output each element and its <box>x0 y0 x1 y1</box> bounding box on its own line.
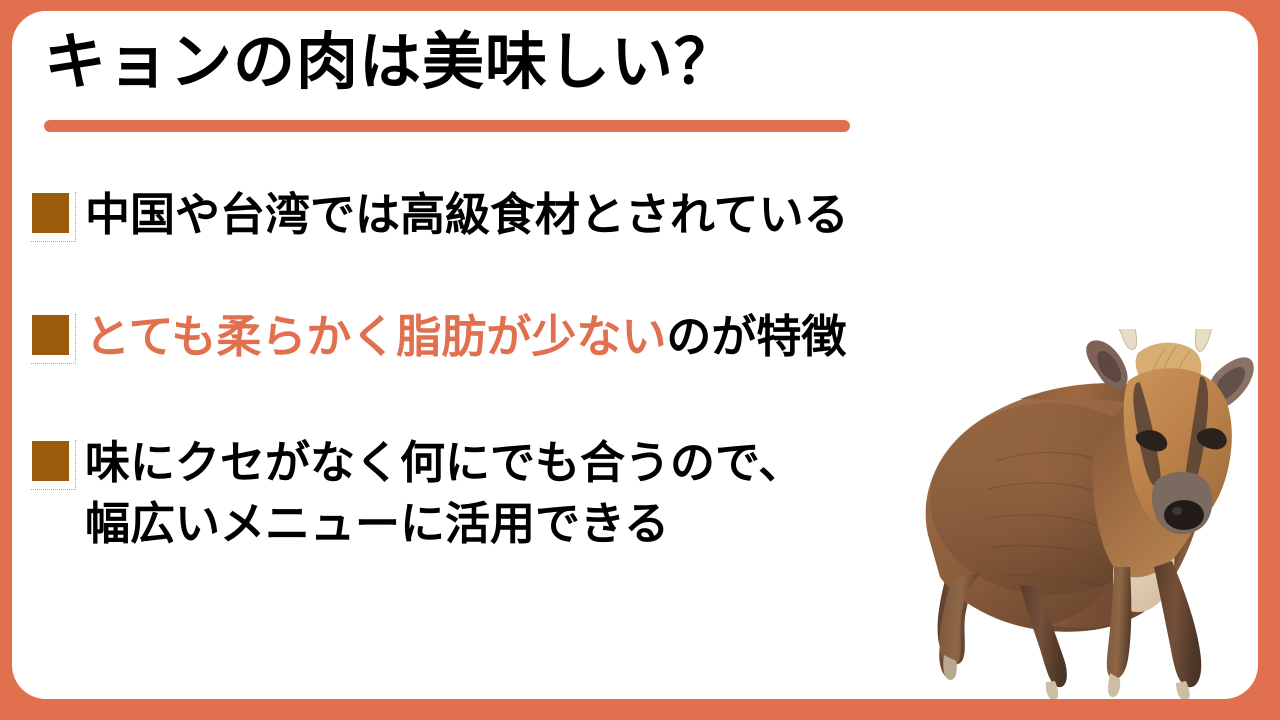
title-block: キョンの肉は美味しい？ <box>44 23 904 101</box>
bullet-text-3: 味にクセがなく何にでも合うので、 幅広いメニューに活用できる <box>85 432 803 554</box>
square-bullet-icon <box>32 193 69 233</box>
bullet-2-highlight-segment: とても柔らかく脂肪が少ない <box>85 310 666 363</box>
deer-nostril <box>1172 507 1182 515</box>
bullet-3-line-1: 味にクセがなく何にでも合うので、 <box>85 436 803 489</box>
deer-front-leg-near <box>1154 561 1201 687</box>
list-item: 中国や台湾では高級食材とされている <box>32 184 849 245</box>
bullet-text-2: とても柔らかく脂肪が少ないのが特徴 <box>85 306 846 367</box>
bullet-text-1: 中国や台湾では高級食材とされている <box>85 184 849 245</box>
square-bullet-icon <box>32 315 69 355</box>
slide-panel: キョンの肉は美味しい？ 中国や台湾では高級食材とされている とても柔らかく脂肪が… <box>12 11 1258 699</box>
deer-antler-right <box>1195 329 1212 351</box>
list-item: とても柔らかく脂肪が少ないのが特徴 <box>32 306 846 367</box>
square-bullet-icon <box>32 441 69 481</box>
page-title: キョンの肉は美味しい？ <box>44 23 904 101</box>
bullet-2-plain-segment: のが特徴 <box>666 310 846 363</box>
bullet-1-line-1-segment-1: 中国や台湾では高級食材とされている <box>85 188 849 241</box>
muntjac-deer-photo <box>900 329 1258 699</box>
list-item: 味にクセがなく何にでも合うので、 幅広いメニューに活用できる <box>32 432 803 554</box>
deer-nose <box>1164 500 1204 530</box>
slide-root: キョンの肉は美味しい？ 中国や台湾では高級食材とされている とても柔らかく脂肪が… <box>0 0 1280 720</box>
title-underline-bar <box>44 120 850 132</box>
bullet-3-line-2: 幅広いメニューに活用できる <box>85 497 669 550</box>
deer-antler-left <box>1116 329 1137 349</box>
